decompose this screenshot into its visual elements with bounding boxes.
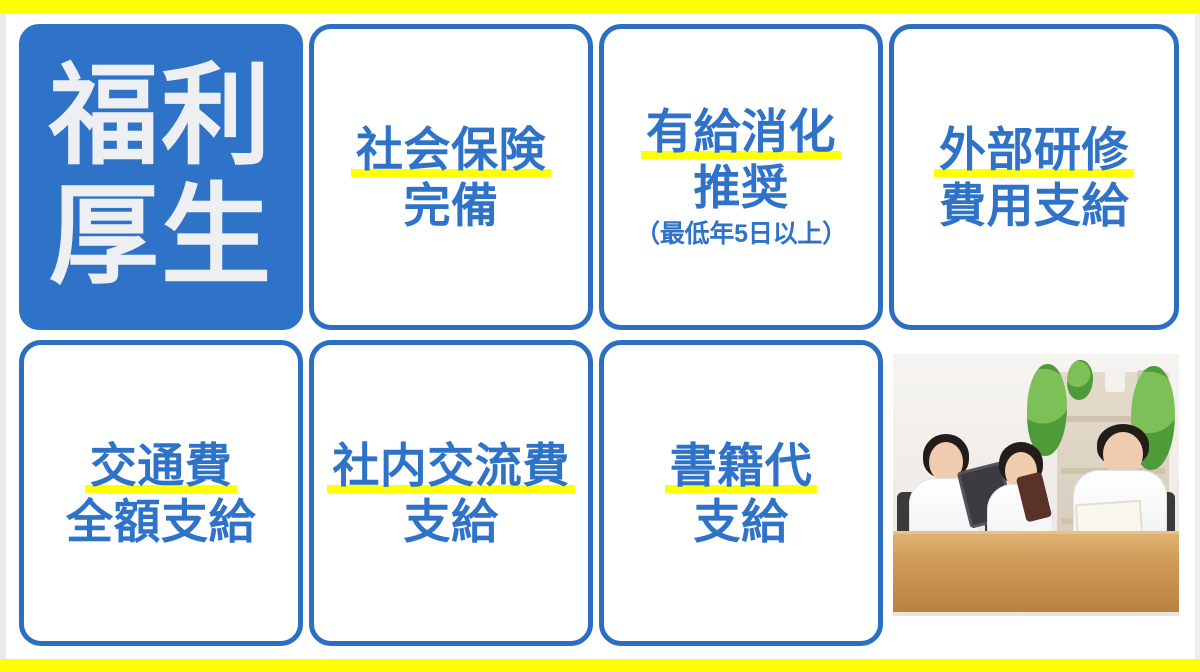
bottom-yellow-band — [0, 659, 1200, 672]
card-line-2: 全額支給 — [64, 498, 258, 545]
card-team-photo — [889, 340, 1179, 646]
card-line-1: 書籍代 — [668, 442, 814, 489]
team-photo — [893, 354, 1179, 616]
card-book-allowance: 書籍代 支給 — [599, 340, 883, 646]
card-text-block: 社内交流費 支給 — [330, 442, 571, 545]
photo-table — [893, 531, 1179, 612]
card-title-fukuri-kousei: 福利 厚生 — [19, 24, 303, 330]
card-line-2: 支給 — [402, 498, 501, 545]
top-yellow-band — [0, 0, 1200, 13]
card-line-1: 有給消化 — [644, 108, 838, 155]
benefits-slide: 福利 厚生 社会保険 完備 有給消化 推奨 （最低年5日以上） 外部研修 費用支… — [0, 0, 1200, 672]
card-line-2: 推奨 — [692, 164, 791, 211]
title-line-1: 福利 — [49, 63, 273, 171]
photo-jar-icon — [1105, 368, 1125, 392]
card-text-block: 書籍代 支給 — [668, 442, 814, 545]
card-line-2: 完備 — [402, 182, 501, 229]
card-text-block: 有給消化 推奨 （最低年5日以上） — [635, 108, 847, 247]
card-note: （最低年5日以上） — [635, 222, 847, 247]
benefits-card-grid: 福利 厚生 社会保険 完備 有給消化 推奨 （最低年5日以上） 外部研修 費用支… — [19, 24, 1185, 650]
card-text-block: 交通費 全額支給 — [64, 442, 258, 545]
title-line-2: 厚生 — [49, 183, 273, 291]
card-text-block: 社会保険 完備 — [354, 126, 548, 229]
left-edge-strip — [0, 13, 6, 659]
card-commuting-cost: 交通費 全額支給 — [19, 340, 303, 646]
card-paid-leave: 有給消化 推奨 （最低年5日以上） — [599, 24, 883, 330]
card-external-training: 外部研修 費用支給 — [889, 24, 1179, 330]
card-line-1: 社内交流費 — [330, 442, 571, 489]
card-line-1: 交通費 — [88, 442, 234, 489]
card-social-insurance: 社会保険 完備 — [309, 24, 593, 330]
card-line-2: 費用支給 — [937, 182, 1131, 229]
right-edge-strip — [1195, 13, 1200, 659]
card-line-1: 外部研修 — [937, 126, 1131, 173]
card-internal-social-cost: 社内交流費 支給 — [309, 340, 593, 646]
title-card-text: 福利 厚生 — [49, 63, 273, 291]
card-line-2: 支給 — [692, 498, 791, 545]
card-text-block: 外部研修 費用支給 — [937, 126, 1131, 229]
card-line-1: 社会保険 — [354, 126, 548, 173]
